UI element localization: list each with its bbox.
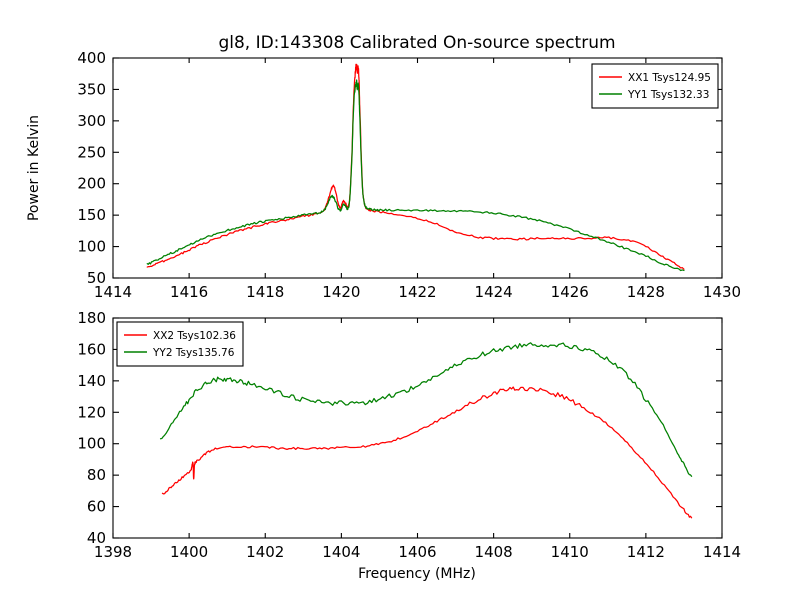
x-tick-label: 1428 <box>627 283 665 301</box>
y-tick-label: 60 <box>87 498 106 516</box>
spectrum-figure: gl8, ID:143308 Calibrated On-source spec… <box>0 0 800 600</box>
x-tick-label: 1430 <box>703 283 741 301</box>
bottom-panel-curves <box>161 343 692 518</box>
legend-label: XX1 Tsys124.95 <box>628 72 711 84</box>
y-tick-label: 400 <box>77 49 106 67</box>
legend-label: XX2 Tsys102.36 <box>153 330 236 342</box>
bottom-panel-xlabel: Frequency (MHz) <box>358 566 476 582</box>
y-tick-label: 40 <box>87 529 106 547</box>
x-tick-label: 1420 <box>322 283 360 301</box>
y-tick-label: 100 <box>77 435 106 453</box>
x-tick-label: 1418 <box>246 283 284 301</box>
y-tick-label: 100 <box>77 238 106 256</box>
x-tick-label: 1416 <box>170 283 208 301</box>
y-tick-label: 300 <box>77 112 106 130</box>
y-tick-label: 350 <box>77 80 106 98</box>
x-tick-label: 1406 <box>398 543 436 561</box>
y-tick-label: 140 <box>77 372 106 390</box>
x-tick-label: 1404 <box>322 543 360 561</box>
legend-label: YY2 Tsys135.76 <box>152 347 235 359</box>
bottom-panel-legend: XX2 Tsys102.36YY2 Tsys135.76 <box>117 322 243 366</box>
x-tick-label: 1424 <box>475 283 513 301</box>
x-tick-label: 1422 <box>398 283 436 301</box>
y-tick-label: 250 <box>77 143 106 161</box>
figure-title: gl8, ID:143308 Calibrated On-source spec… <box>218 33 615 53</box>
x-tick-label: 1426 <box>551 283 589 301</box>
y-tick-label: 200 <box>77 175 106 193</box>
data-curve <box>162 387 691 518</box>
x-tick-label: 1412 <box>627 543 665 561</box>
y-tick-label: 50 <box>87 269 106 287</box>
x-tick-label: 1414 <box>703 543 741 561</box>
x-tick-label: 1402 <box>246 543 284 561</box>
x-tick-label: 1400 <box>170 543 208 561</box>
top-panel-ylabel: Power in Kelvin <box>26 115 42 221</box>
y-tick-label: 160 <box>77 340 106 358</box>
data-curve <box>147 80 684 271</box>
legend-label: YY1 Tsys132.33 <box>627 89 709 101</box>
y-tick-label: 80 <box>87 466 106 484</box>
top-panel: 141414161418142014221424142614281430 501… <box>26 49 741 301</box>
bottom-panel: 139814001402140414061408141014121414 406… <box>77 309 741 582</box>
top-panel-legend: XX1 Tsys124.95YY1 Tsys132.33 <box>592 64 718 108</box>
y-tick-label: 120 <box>77 403 106 421</box>
y-tick-label: 150 <box>77 206 106 224</box>
x-tick-label: 1410 <box>551 543 589 561</box>
figure-canvas: gl8, ID:143308 Calibrated On-source spec… <box>0 0 800 600</box>
y-tick-label: 180 <box>77 309 106 327</box>
x-tick-label: 1408 <box>475 543 513 561</box>
